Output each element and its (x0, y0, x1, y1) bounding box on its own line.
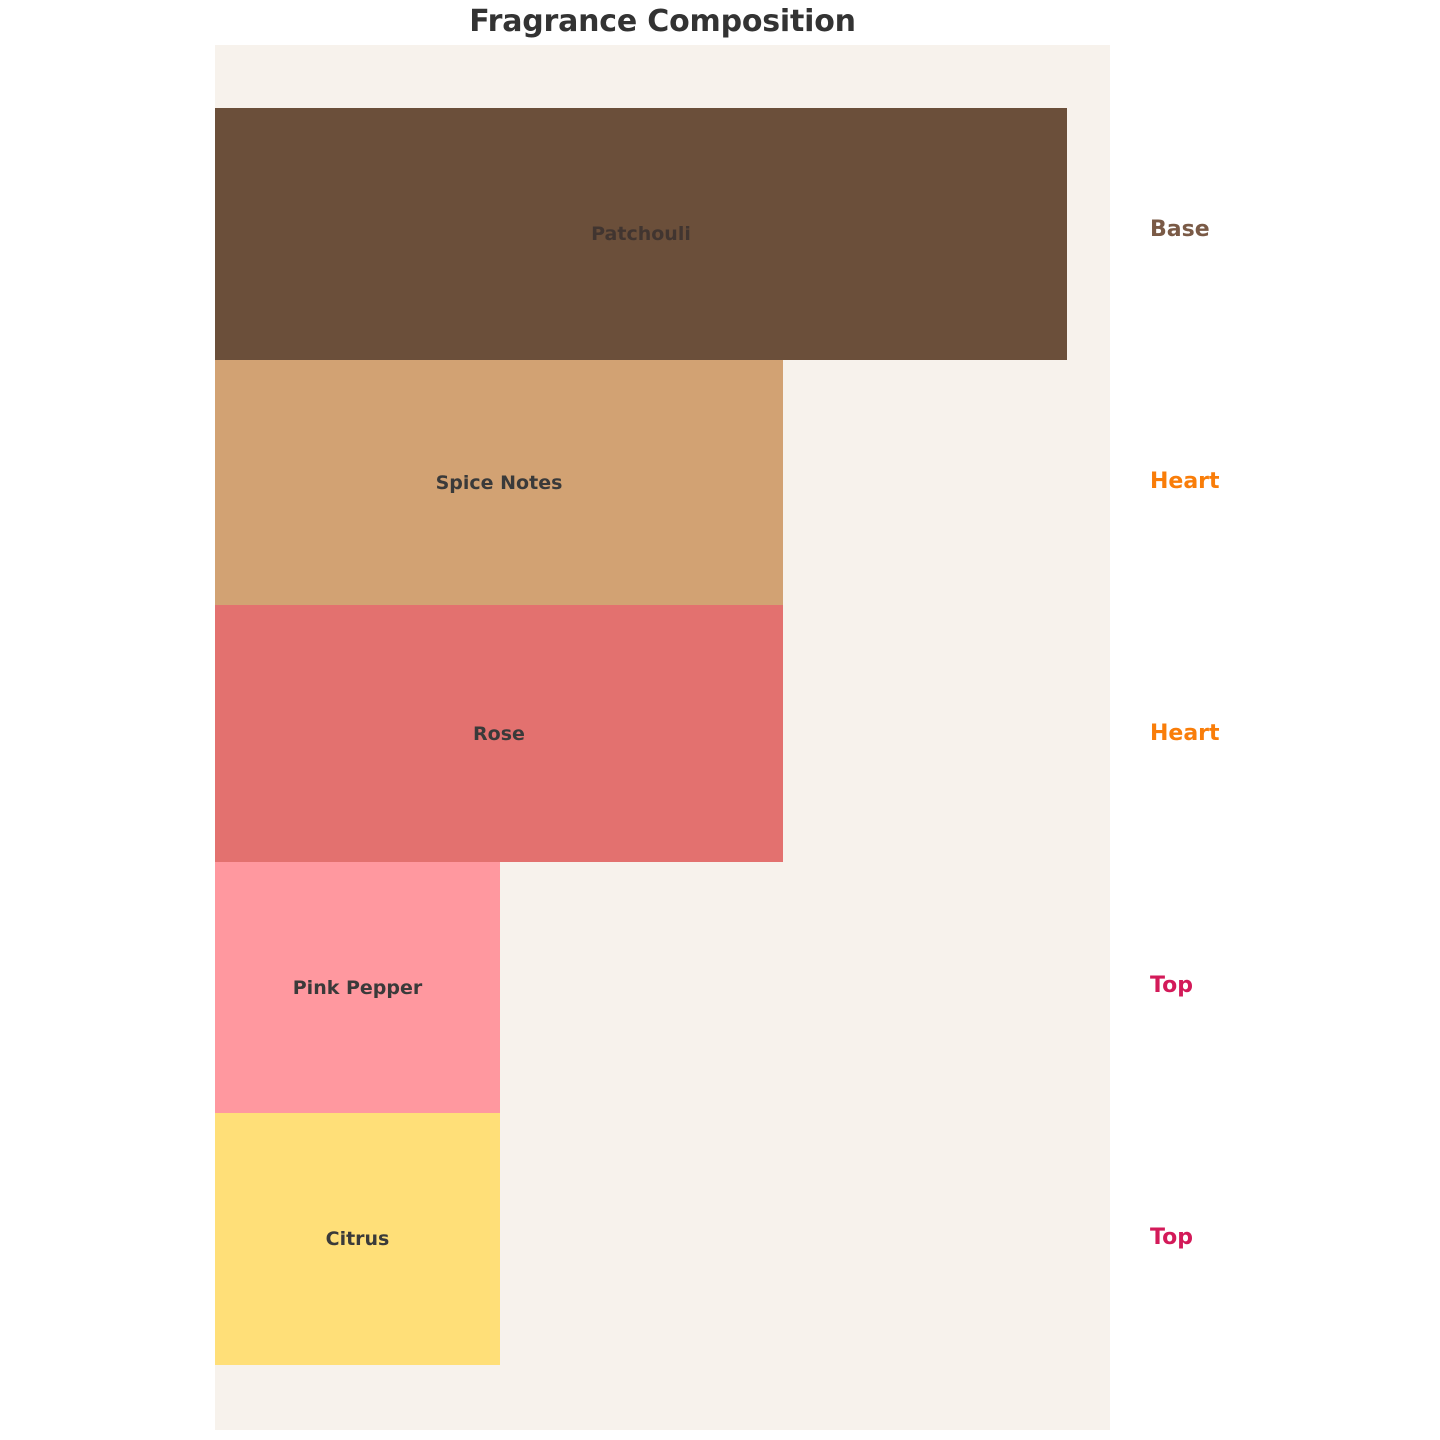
bar-label: Spice Notes (436, 472, 563, 494)
bar-row: Pink Pepper (215, 862, 1110, 1113)
page-title: Fragrance Composition (0, 4, 1325, 39)
bar-row: Spice Notes (215, 360, 1110, 605)
bar-label: Citrus (326, 1228, 390, 1250)
plot-area: PatchouliSpice NotesRosePink PepperCitru… (215, 45, 1110, 1430)
bar-patchouli[interactable]: Patchouli (215, 108, 1067, 360)
bar-row: Citrus (215, 1113, 1110, 1365)
bar-citrus[interactable]: Citrus (215, 1113, 500, 1365)
stage-label-base: Base (1150, 217, 1210, 242)
fragrance-composition-figure: Fragrance Composition PatchouliSpice Not… (0, 0, 1440, 1440)
bar-label: Rose (473, 723, 525, 745)
bar-row: Rose (215, 605, 1110, 862)
bar-spice-notes[interactable]: Spice Notes (215, 360, 783, 605)
stage-label-heart: Heart (1150, 469, 1220, 494)
stage-label-top: Top (1150, 1225, 1193, 1250)
bar-rose[interactable]: Rose (215, 605, 783, 862)
stage-label-heart: Heart (1150, 721, 1220, 746)
bar-label: Patchouli (591, 223, 691, 245)
bar-row: Patchouli (215, 108, 1110, 360)
stage-label-top: Top (1150, 973, 1193, 998)
bar-pink-pepper[interactable]: Pink Pepper (215, 862, 500, 1113)
bar-label: Pink Pepper (293, 977, 422, 999)
